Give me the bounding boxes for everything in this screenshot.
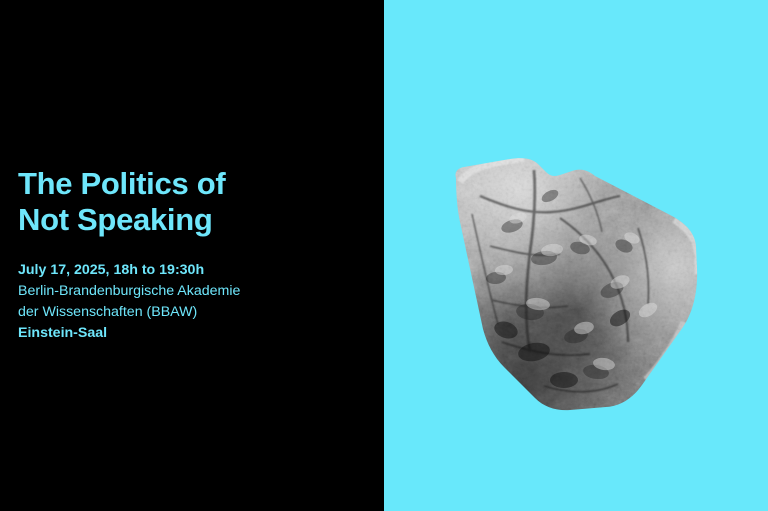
event-venue-line-2: der Wissenschaften (BBAW) <box>18 302 368 323</box>
event-room: Einstein-Saal <box>18 323 368 344</box>
event-datetime: July 17, 2025, 18h to 19:30h <box>18 260 368 281</box>
right-image-panel <box>384 0 768 511</box>
fossil-stone-specimen-image <box>384 0 768 511</box>
stone-body <box>444 150 714 425</box>
poster-canvas: The Politics of Not Speaking July 17, 20… <box>0 0 768 511</box>
page-title: The Politics of Not Speaking <box>18 166 368 238</box>
title-line-1: The Politics of <box>18 166 368 202</box>
text-block: The Politics of Not Speaking July 17, 20… <box>18 166 368 343</box>
event-venue-line-1: Berlin-Brandenburgische Akademie <box>18 281 368 302</box>
title-line-2: Not Speaking <box>18 202 368 238</box>
event-details: July 17, 2025, 18h to 19:30h Berlin-Bran… <box>18 260 368 344</box>
left-text-panel: The Politics of Not Speaking July 17, 20… <box>0 0 384 511</box>
fossil-stone-specimen-container <box>384 0 768 511</box>
